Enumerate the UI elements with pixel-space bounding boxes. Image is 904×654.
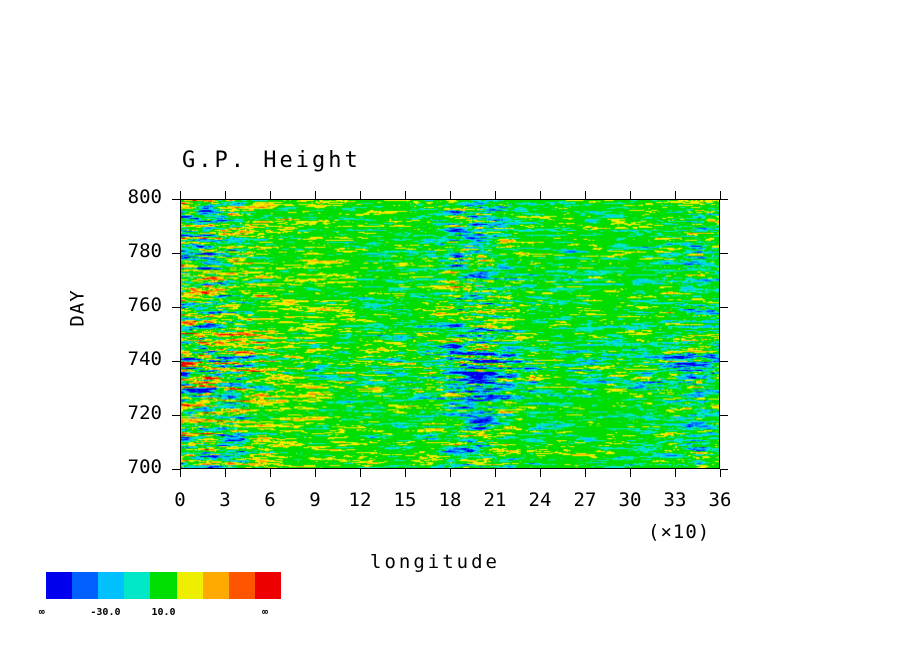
y-tick-left [172, 199, 180, 200]
colorbar [46, 572, 281, 599]
x-tick-label: 24 [520, 489, 560, 511]
x-tick-label: 27 [565, 489, 605, 511]
x-tick-top [495, 191, 496, 199]
y-tick-label: 780 [90, 240, 162, 262]
chart-container: G.P. Height 0369121518212427303336 70072… [0, 0, 904, 654]
x-tick-label: 15 [385, 489, 425, 511]
x-tick-label: 3 [205, 489, 245, 511]
x-tick-label: 33 [655, 489, 695, 511]
x-tick-top [225, 191, 226, 199]
x-tick-bottom [720, 469, 721, 477]
y-tick-right [720, 253, 728, 254]
x-tick-bottom [225, 469, 226, 477]
y-tick-left [172, 469, 180, 470]
x-tick-top [630, 191, 631, 199]
x-tick-label: 30 [610, 489, 650, 511]
x-tick-bottom [450, 469, 451, 477]
y-tick-label: 800 [90, 186, 162, 208]
x-axis-multiplier: (×10) [648, 521, 710, 543]
chart-title: G.P. Height [182, 148, 361, 173]
x-tick-bottom [675, 469, 676, 477]
colorbar-swatch [46, 572, 72, 599]
x-tick-top [675, 191, 676, 199]
x-tick-bottom [180, 469, 181, 477]
x-tick-top [405, 191, 406, 199]
colorbar-swatch [98, 572, 124, 599]
x-tick-label: 18 [430, 489, 470, 511]
x-tick-top [450, 191, 451, 199]
x-tick-bottom [630, 469, 631, 477]
y-tick-label: 720 [90, 402, 162, 424]
colorbar-label: 10.0 [152, 607, 176, 618]
x-axis-title: longitude [370, 551, 500, 573]
x-tick-label: 9 [295, 489, 335, 511]
colorbar-swatch [124, 572, 150, 599]
x-tick-bottom [405, 469, 406, 477]
y-tick-left [172, 415, 180, 416]
x-tick-bottom [315, 469, 316, 477]
heatmap-plot-area [180, 199, 720, 469]
y-tick-right [720, 361, 728, 362]
x-tick-top [270, 191, 271, 199]
x-tick-bottom [270, 469, 271, 477]
y-tick-left [172, 361, 180, 362]
y-tick-left [172, 307, 180, 308]
colorbar-swatch [72, 572, 98, 599]
y-axis-title: DAY [67, 289, 89, 326]
x-tick-bottom [585, 469, 586, 477]
colorbar-label: -30.0 [90, 607, 120, 618]
y-tick-label: 760 [90, 294, 162, 316]
x-tick-label: 21 [475, 489, 515, 511]
x-tick-top [540, 191, 541, 199]
x-tick-label: 6 [250, 489, 290, 511]
colorbar-swatch [150, 572, 176, 599]
y-tick-right [720, 415, 728, 416]
y-tick-right [720, 469, 728, 470]
colorbar-swatch [229, 572, 255, 599]
y-tick-left [172, 253, 180, 254]
y-tick-right [720, 199, 728, 200]
x-tick-top [360, 191, 361, 199]
x-tick-top [315, 191, 316, 199]
x-tick-bottom [540, 469, 541, 477]
heatmap-canvas [181, 200, 719, 468]
x-tick-label: 12 [340, 489, 380, 511]
colorbar-swatch [203, 572, 229, 599]
colorbar-swatch [255, 572, 281, 599]
colorbar-swatch [177, 572, 203, 599]
colorbar-label: ∞ [262, 607, 268, 618]
y-tick-right [720, 307, 728, 308]
colorbar-label: ∞ [39, 607, 45, 618]
y-tick-label: 740 [90, 348, 162, 370]
x-tick-label: 36 [700, 489, 740, 511]
x-tick-label: 0 [160, 489, 200, 511]
x-tick-bottom [495, 469, 496, 477]
x-tick-top [585, 191, 586, 199]
x-tick-bottom [360, 469, 361, 477]
y-tick-label: 700 [90, 456, 162, 478]
